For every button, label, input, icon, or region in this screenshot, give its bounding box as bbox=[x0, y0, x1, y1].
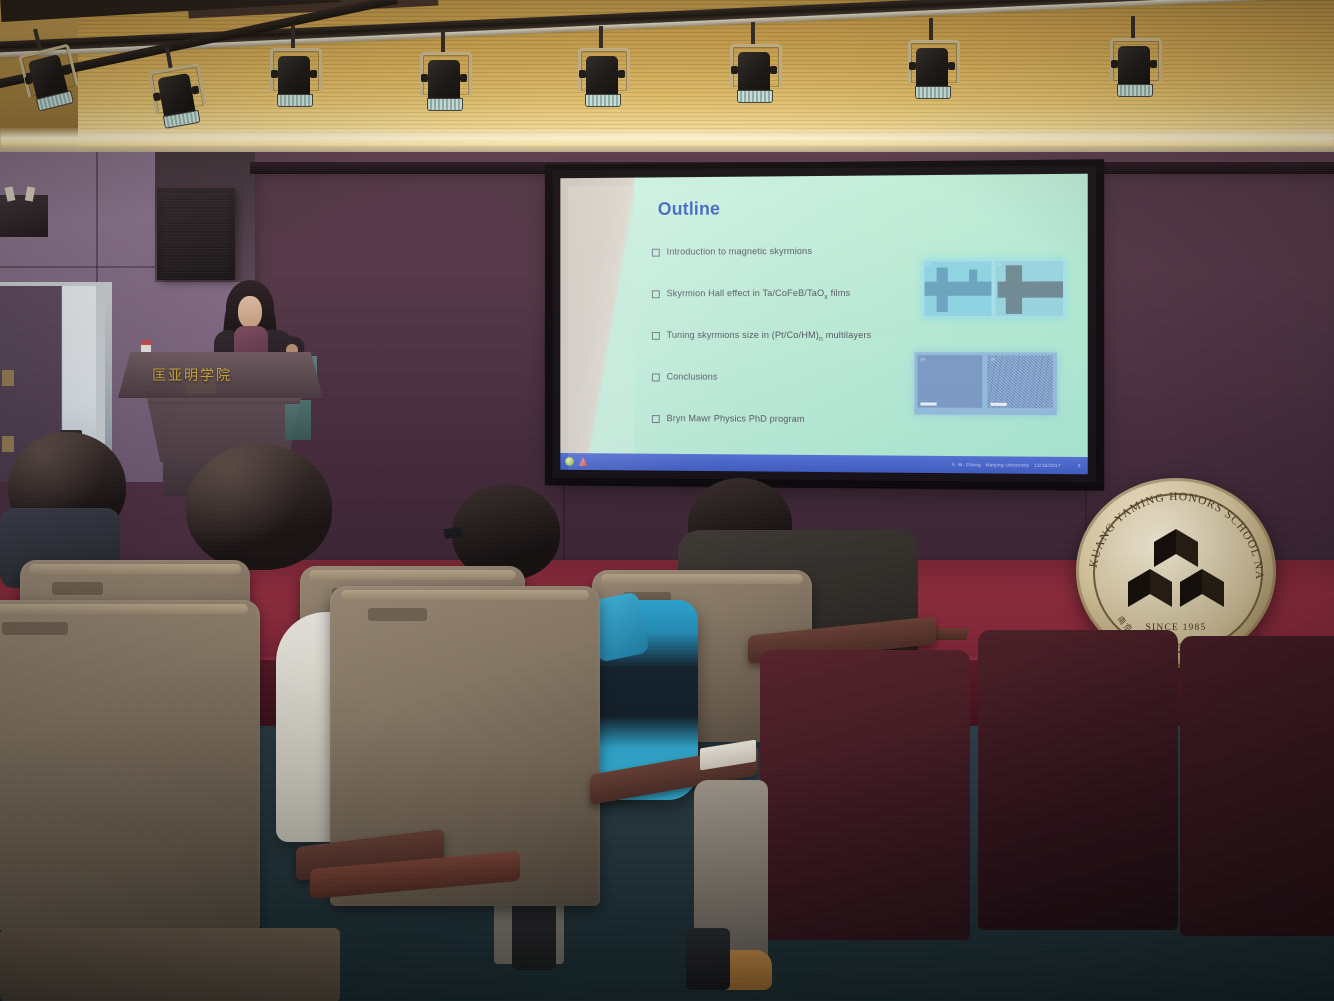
seat-lower-panel bbox=[0, 928, 340, 1001]
projection-screen: Outline Introduction to magnetic skyrmio… bbox=[553, 165, 1096, 482]
svg-text:KUANG YAMING HONORS SCHOOL NAN: KUANG YAMING HONORS SCHOOL NANJING bbox=[1076, 478, 1265, 580]
wall-loudspeaker bbox=[157, 188, 235, 280]
auditorium-seat[interactable] bbox=[1180, 636, 1334, 936]
logo-icon bbox=[579, 457, 588, 466]
figure-label: (b) bbox=[990, 357, 994, 361]
scale-bar bbox=[990, 403, 1006, 406]
slide-figure-mfm-images: (a) (b) bbox=[914, 352, 1057, 415]
presentation-slide: Outline Introduction to magnetic skyrmio… bbox=[634, 174, 1087, 475]
slide-bullet-1: Introduction to magnetic skyrmions bbox=[652, 246, 812, 257]
presenter-face bbox=[238, 296, 262, 328]
mfm-image-stripes: (b) bbox=[987, 355, 1052, 408]
slide-bullet-3: Tuning skyrmions size in (Pt/Co/HM)n mul… bbox=[652, 330, 872, 343]
bullet-text: Skyrmion Hall effect in Ta/CoFeB/TaOx fi… bbox=[667, 288, 851, 301]
hall-bar-image-right: Ta bbox=[996, 261, 1064, 316]
hall-bar-image-left: Pt bbox=[924, 261, 991, 316]
bullet-checkbox-icon bbox=[652, 415, 660, 423]
figure-label: Pt bbox=[927, 263, 930, 267]
globe-icon bbox=[565, 457, 574, 466]
auditorium-seat[interactable] bbox=[978, 630, 1178, 930]
wall-loudspeaker-small bbox=[0, 195, 48, 237]
slide-bullet-2: Skyrmion Hall effect in Ta/CoFeB/TaOx fi… bbox=[652, 288, 850, 301]
audience-leg-dark bbox=[686, 928, 730, 990]
podium-side-panel bbox=[285, 400, 311, 440]
bullet-text: Tuning skyrmions size in (Pt/Co/HM)n mul… bbox=[667, 330, 872, 343]
audience-head bbox=[186, 444, 332, 570]
bullet-checkbox-icon bbox=[652, 332, 660, 340]
slide-bullet-5: Bryn Mawr Physics PhD program bbox=[652, 413, 805, 424]
bullet-text: Introduction to magnetic skyrmions bbox=[667, 246, 812, 257]
mfm-image-uniform: (a) bbox=[917, 355, 982, 408]
bullet-checkbox-icon bbox=[652, 374, 660, 382]
auditorium-seat[interactable] bbox=[760, 650, 970, 940]
tricube-logo-icon bbox=[1128, 529, 1224, 607]
bullet-checkbox-icon bbox=[652, 249, 660, 257]
slide-title: Outline bbox=[658, 199, 720, 220]
scale-bar bbox=[920, 402, 936, 405]
slide-page-number: 2 bbox=[1078, 463, 1081, 468]
figure-label: (a) bbox=[920, 357, 924, 361]
lecture-hall-photo: Outline Introduction to magnetic skyrmio… bbox=[0, 0, 1334, 1001]
auditorium-seat[interactable] bbox=[0, 600, 260, 930]
screen-surface: Outline Introduction to magnetic skyrmio… bbox=[560, 174, 1087, 475]
bullet-text: Bryn Mawr Physics PhD program bbox=[667, 413, 805, 424]
bullet-text: Conclusions bbox=[667, 372, 718, 382]
bullet-checkbox-icon bbox=[652, 290, 660, 298]
figure-label: Ta bbox=[998, 262, 1002, 266]
emblem-outer-text: KUANG YAMING HONORS SCHOOL NANJING bbox=[1076, 478, 1265, 580]
slide-figure-hall-bars: Pt Ta bbox=[922, 259, 1065, 318]
slide-bullet-4: Conclusions bbox=[652, 372, 718, 382]
slide-footer-text: X. M. Cheng Nanjing University 12/15/201… bbox=[952, 462, 1061, 468]
podium-inscription: 匡亚明学院 bbox=[152, 365, 262, 385]
presenter-scarf bbox=[234, 326, 268, 356]
slide-footer-band: X. M. Cheng Nanjing University 12/15/201… bbox=[560, 453, 1087, 474]
